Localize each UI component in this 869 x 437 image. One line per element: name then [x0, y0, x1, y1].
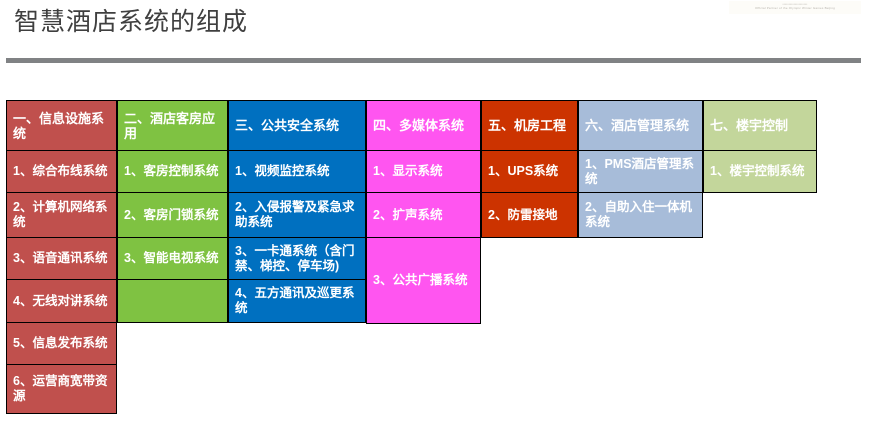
matrix-item-cell[interactable]: 1、UPS系统 — [481, 150, 578, 193]
matrix-column-2: 二、酒店客房应用1、客房控制系统2、客房门锁系统3、智能电视系统 — [117, 100, 228, 323]
matrix-item-cell[interactable]: 5、信息发布系统 — [6, 322, 117, 365]
matrix-item-cell[interactable]: 2、客房门锁系统 — [117, 192, 228, 238]
matrix-item-cell[interactable]: 2、扩声系统 — [366, 192, 481, 238]
matrix-header-cell[interactable]: 七、楼宇控制 — [703, 100, 817, 151]
matrix-header-cell[interactable]: 二、酒店客房应用 — [117, 100, 228, 151]
matrix-item-cell[interactable]: 3、公共广播系统 — [366, 237, 481, 324]
matrix-item-cell[interactable]: 3、语音通讯系统 — [6, 237, 117, 280]
page-title: 智慧酒店系统的组成 — [14, 8, 248, 38]
matrix-header-cell[interactable]: 一、信息设施系统 — [6, 100, 117, 151]
matrix-column-5: 五、机房工程1、UPS系统2、防雷接地 — [481, 100, 578, 238]
matrix-column-4: 四、多媒体系统1、显示系统2、扩声系统3、公共广播系统 — [366, 100, 481, 324]
matrix-item-cell[interactable]: 2、入侵报警及紧急求助系统 — [228, 192, 366, 238]
matrix-item-cell[interactable]: 1、视频监控系统 — [228, 150, 366, 193]
matrix-column-1: 一、信息设施系统1、综合布线系统2、计算机网络系统3、语音通讯系统4、无线对讲系… — [6, 100, 117, 414]
title-divider — [6, 58, 861, 63]
matrix-item-cell[interactable]: 4、无线对讲系统 — [6, 279, 117, 323]
matrix-column-3: 三、公共安全系统1、视频监控系统2、入侵报警及紧急求助系统3、一卡通系统（含门禁… — [228, 100, 366, 323]
matrix-column-6: 六、酒店管理系统1、PMS酒店管理系统2、自助入住一体机系统 — [578, 100, 703, 238]
matrix-item-cell[interactable]: 1、显示系统 — [366, 150, 481, 193]
matrix-item-cell[interactable]: 1、综合布线系统 — [6, 150, 117, 193]
matrix-item-cell[interactable]: 2、防雷接地 — [481, 192, 578, 238]
matrix-item-cell[interactable]: 2、自助入住一体机系统 — [578, 192, 703, 238]
matrix-item-cell[interactable] — [117, 279, 228, 323]
matrix-header-cell[interactable]: 六、酒店管理系统 — [578, 100, 703, 151]
watermark-line-2: Official Partner of the Olympic Winter G… — [729, 6, 861, 10]
watermark-logo: •••••••••••••••••••• Official Partner of… — [729, 1, 861, 14]
matrix-item-cell[interactable]: 3、一卡通系统（含门禁、梯控、停车场) — [228, 237, 366, 280]
matrix-item-cell[interactable]: 3、智能电视系统 — [117, 237, 228, 280]
matrix-item-cell[interactable]: 1、PMS酒店管理系统 — [578, 150, 703, 193]
matrix-item-cell[interactable]: 1、客房控制系统 — [117, 150, 228, 193]
matrix-item-cell[interactable]: 1、楼宇控制系统 — [703, 150, 817, 193]
matrix-item-cell[interactable]: 4、五方通讯及巡更系统 — [228, 279, 366, 323]
matrix-header-cell[interactable]: 三、公共安全系统 — [228, 100, 366, 151]
matrix-item-cell[interactable]: 2、计算机网络系统 — [6, 192, 117, 238]
matrix-column-7: 七、楼宇控制1、楼宇控制系统 — [703, 100, 817, 193]
matrix-header-cell[interactable]: 四、多媒体系统 — [366, 100, 481, 151]
matrix-header-cell[interactable]: 五、机房工程 — [481, 100, 578, 151]
matrix-item-cell[interactable]: 6、运营商宽带资源 — [6, 364, 117, 414]
system-composition-matrix: 一、信息设施系统1、综合布线系统2、计算机网络系统3、语音通讯系统4、无线对讲系… — [6, 100, 817, 414]
